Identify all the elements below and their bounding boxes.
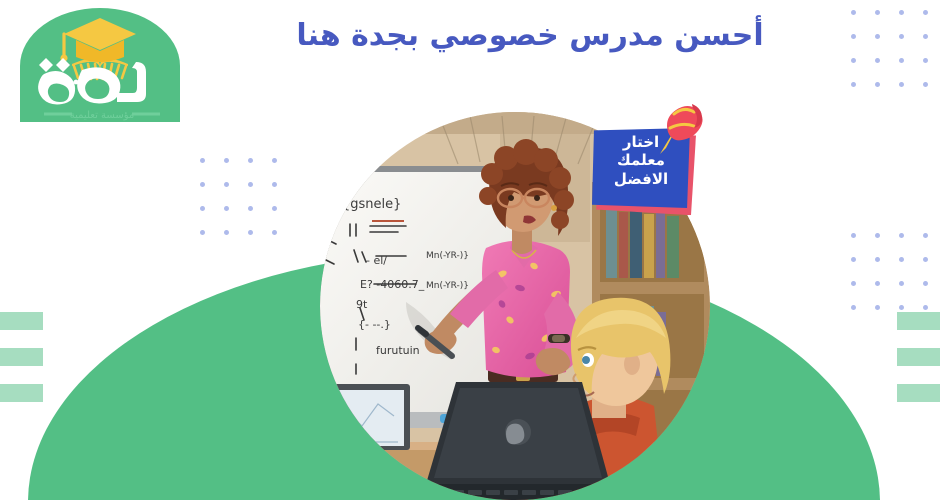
logo-tagline: مؤسسة تعليمية [70, 110, 134, 121]
svg-text:E? -4060.7_: E? -4060.7_ [360, 278, 425, 291]
hessa-logo[interactable]: مؤسسة تعليمية [10, 4, 190, 122]
svg-text:{gsnele}: {gsnele} [342, 197, 401, 212]
svg-text:{- --.}: {- --.} [358, 318, 391, 331]
dot-grid-mid-right [851, 233, 928, 310]
svg-text:furutuin: furutuin [376, 344, 420, 357]
svg-text:- el/: - el/ [366, 254, 387, 267]
promo-banner: مؤسسة تعليمية أحسن مدرس خصوصي بجدة هنا [0, 0, 940, 500]
page-title: أحسن مدرس خصوصي بجدة هنا [250, 16, 810, 57]
green-bars-right [897, 312, 940, 420]
pushpin-icon [652, 98, 708, 156]
svg-text:Mn(-YR-)}: Mn(-YR-)} [426, 281, 469, 291]
status-badge[interactable]: اختار معلمك الافضل [592, 128, 690, 208]
svg-text:9t: 9t [356, 298, 368, 311]
badge-line-3: الافضل [592, 170, 690, 188]
dot-grid-top-right [851, 10, 928, 87]
dot-grid-mid-left [200, 158, 277, 235]
svg-text:Mn(-YR-)}: Mn(-YR-)} [426, 251, 469, 261]
green-bars-left [0, 312, 43, 420]
